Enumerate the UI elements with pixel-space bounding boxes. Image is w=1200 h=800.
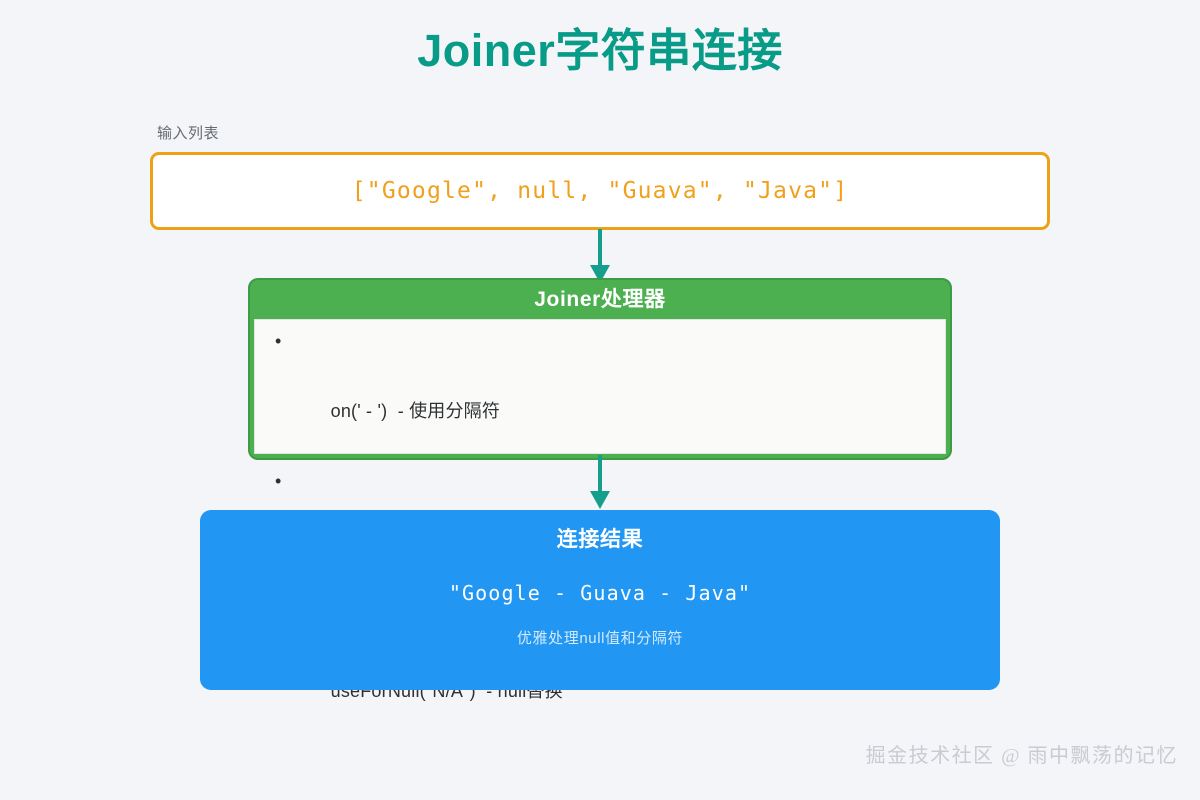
input-list-code: ["Google", null, "Guava", "Java"] — [352, 178, 849, 204]
input-list-box: ["Google", null, "Guava", "Java"] — [150, 152, 1050, 230]
joiner-processor-body: • on(' - ') - 使用分隔符 • skipNulls() - 跳过nu… — [254, 319, 946, 454]
joiner-processor-header: Joiner处理器 — [250, 280, 950, 320]
footer-watermark: 掘金技术社区 @ 雨中飘荡的记忆 — [866, 739, 1178, 768]
result-box: 连接结果 "Google - Guava - Java" 优雅处理null值和分… — [200, 510, 1000, 690]
result-note: 优雅处理null值和分隔符 — [200, 627, 1000, 648]
bullet-icon: • — [275, 324, 282, 359]
arrow-processor-to-result-icon — [585, 455, 615, 509]
arrow-input-to-processor-icon — [585, 229, 615, 283]
list-item: • on(' - ') - 使用分隔符 — [255, 324, 945, 464]
page-title: Joiner字符串连接 — [0, 24, 1200, 78]
list-item-label: on(' - ') - 使用分隔符 — [331, 401, 500, 421]
result-header: 连接结果 — [200, 523, 1000, 553]
bullet-icon: • — [275, 464, 282, 499]
joiner-processor-box: Joiner处理器 • on(' - ') - 使用分隔符 • skipNull… — [248, 278, 952, 460]
input-list-label: 输入列表 — [157, 122, 219, 143]
result-code: "Google - Guava - Java" — [200, 581, 1000, 605]
